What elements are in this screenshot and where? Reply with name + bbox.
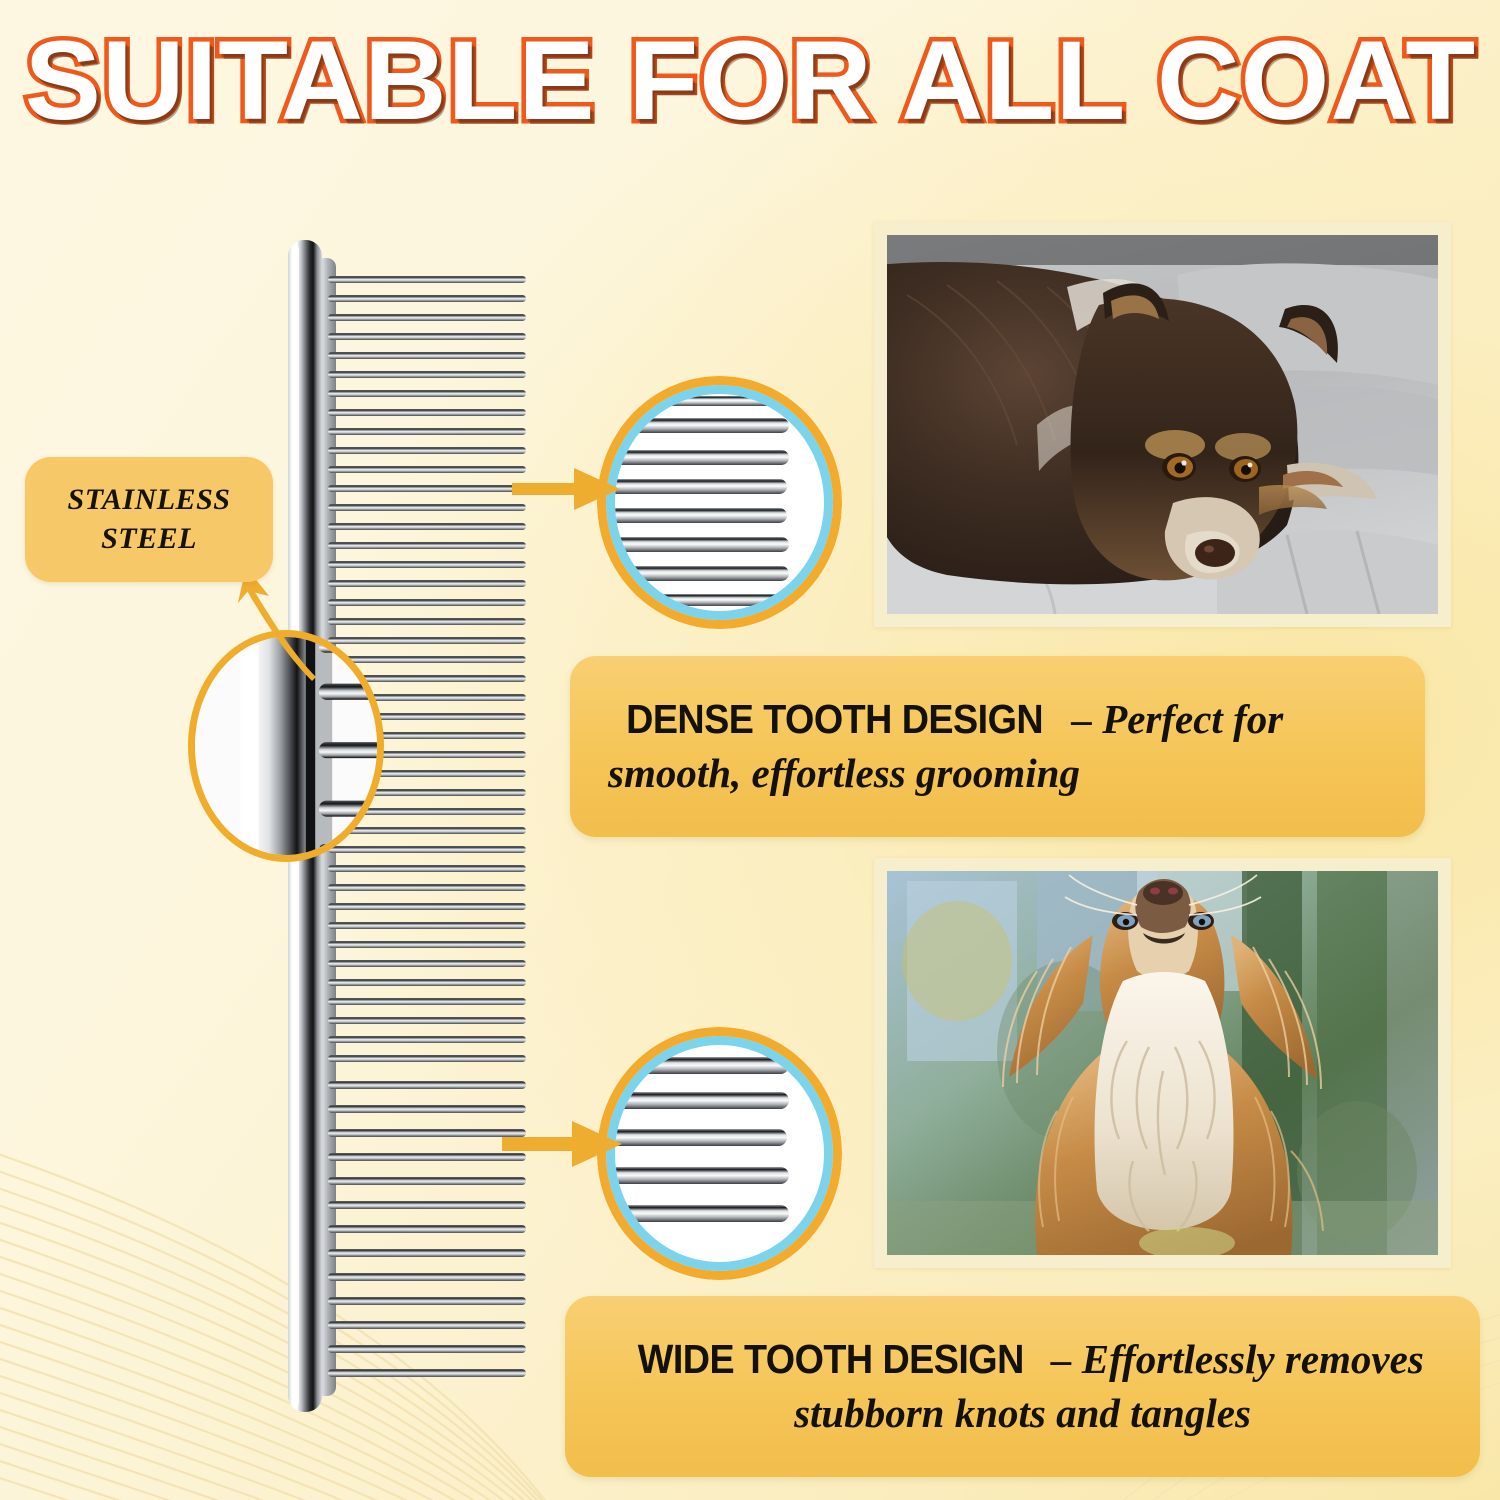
stainless-steel-label-text: STAINLESS STEEL [68, 481, 231, 558]
wide-tooth-caption-text: WIDE TOOTH DESIGN – Effortlessly removes… [591, 1333, 1454, 1440]
dog-photo-looking-up [887, 871, 1438, 1255]
badge-line-1: STAINLESS [68, 483, 231, 516]
dog-photo-looking-up-frame [874, 858, 1451, 1268]
dense-tooth-callout-circle [597, 376, 842, 629]
arrow-to-dense-circle [512, 452, 624, 526]
page-title: SUITABLE FOR ALL COAT [24, 22, 1475, 140]
wide-tooth-caption-box: WIDE TOOTH DESIGN – Effortlessly removes… [565, 1296, 1480, 1477]
wide-caption-bold: WIDE TOOTH DESIGN [638, 1333, 1024, 1386]
arrow-to-wide-circle [502, 1103, 628, 1185]
dense-tooth-caption-box: DENSE TOOTH DESIGN – Perfect for smooth,… [570, 656, 1425, 837]
title-container: SUITABLE FOR ALL COAT [0, 22, 1500, 140]
stainless-steel-label: STAINLESS STEEL [25, 457, 273, 582]
wide-tooth-callout-circle [597, 1027, 842, 1280]
callout-outer-gold-ring [597, 1027, 842, 1280]
dog-photo-resting [887, 235, 1438, 614]
badge-line-2: STEEL [101, 522, 197, 555]
dense-tooth-caption-text: DENSE TOOTH DESIGN – Perfect for smooth,… [608, 693, 1395, 800]
arrow-to-steel-label [212, 565, 328, 683]
wide-caption-dash: – [1041, 1336, 1082, 1382]
dense-caption-dash: – [1061, 696, 1102, 742]
callout-outer-gold-ring [597, 376, 842, 629]
dog-photo-resting-frame [874, 222, 1451, 627]
dense-caption-bold: DENSE TOOTH DESIGN [626, 693, 1043, 746]
